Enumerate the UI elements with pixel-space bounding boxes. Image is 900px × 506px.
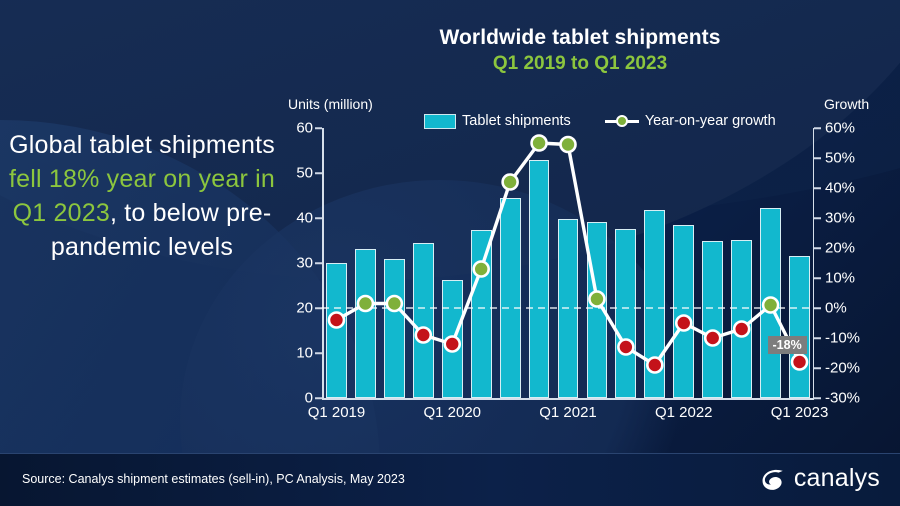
right-axis-title: Growth — [824, 96, 869, 112]
left-axis-tick-label: 50 — [296, 165, 313, 182]
left-axis-tick-label: 30 — [296, 255, 313, 272]
right-axis-tick — [814, 217, 821, 219]
growth-marker-q1-2021[interactable] — [561, 137, 576, 152]
chart-legend: Tablet shipments Year-on-year growth — [424, 113, 776, 129]
plot-area: 0102030405060-30%-20%-10%0%10%20%30%40%5… — [322, 128, 814, 398]
left-axis-tick-label: 10 — [296, 345, 313, 362]
line-marker-icon — [605, 114, 639, 128]
right-axis-tick — [814, 397, 821, 399]
growth-marker-q2-2021[interactable] — [589, 292, 604, 307]
right-axis-tick — [814, 247, 821, 249]
bar-swatch-icon — [424, 114, 456, 129]
growth-marker-q2-2019[interactable] — [358, 296, 373, 311]
growth-marker-q1-2019[interactable] — [329, 313, 344, 328]
headline-part-1: Global tablet shipments — [9, 131, 275, 159]
growth-marker-q4-2019[interactable] — [416, 328, 431, 343]
source-note: Source: Canalys shipment estimates (sell… — [22, 472, 405, 486]
chart-title: Worldwide tablet shipments — [300, 26, 860, 50]
chart-subtitle: Q1 2019 to Q1 2023 — [300, 53, 860, 75]
right-axis-tick-label: 60% — [825, 120, 855, 137]
right-axis-tick-label: -20% — [825, 360, 860, 377]
right-axis-tick-label: 20% — [825, 240, 855, 257]
x-axis-tick-label: Q1 2021 — [539, 404, 597, 421]
slide-canvas: Worldwide tablet shipments Q1 2019 to Q1… — [0, 0, 900, 506]
growth-marker-q4-2022[interactable] — [763, 298, 778, 313]
left-axis-tick — [315, 127, 322, 129]
right-axis-tick-label: 30% — [825, 210, 855, 227]
growth-marker-q3-2019[interactable] — [387, 296, 402, 311]
footer-bar: Source: Canalys shipment estimates (sell… — [0, 453, 900, 506]
growth-line — [336, 143, 799, 365]
legend-label-line: Year-on-year growth — [645, 113, 776, 129]
growth-line-series — [322, 128, 814, 398]
right-axis-tick — [814, 157, 821, 159]
right-axis-tick — [814, 367, 821, 369]
canalys-logo: canalys — [760, 464, 880, 493]
left-axis-tick — [315, 397, 322, 399]
x-axis-tick-label: Q1 2022 — [655, 404, 713, 421]
left-axis-tick — [315, 217, 322, 219]
x-axis-tick-label: Q1 2020 — [423, 404, 481, 421]
right-axis-tick — [814, 277, 821, 279]
legend-item-line: Year-on-year growth — [605, 113, 776, 129]
canalys-wordmark: canalys — [794, 464, 880, 493]
right-axis-tick-label: 0% — [825, 300, 847, 317]
growth-marker-q4-2021[interactable] — [647, 358, 662, 373]
growth-marker-q2-2020[interactable] — [474, 262, 489, 277]
left-axis-tick-label: 40 — [296, 210, 313, 227]
growth-marker-q1-2022[interactable] — [676, 316, 691, 331]
x-axis-line — [322, 398, 814, 400]
legend-item-bars: Tablet shipments — [424, 113, 571, 129]
growth-marker-q4-2020[interactable] — [532, 136, 547, 151]
growth-callout-label: -18% — [768, 336, 807, 354]
right-axis-tick-label: 40% — [825, 180, 855, 197]
left-axis-tick — [315, 307, 322, 309]
x-axis-tick-label: Q1 2019 — [308, 404, 366, 421]
growth-marker-q2-2022[interactable] — [705, 331, 720, 346]
right-axis-tick — [814, 187, 821, 189]
growth-marker-q1-2020[interactable] — [445, 337, 460, 352]
left-axis-tick — [315, 172, 322, 174]
growth-marker-q3-2021[interactable] — [618, 340, 633, 355]
left-axis-title: Units (million) — [288, 96, 373, 112]
right-axis-tick-label: -10% — [825, 330, 860, 347]
left-axis-tick — [315, 262, 322, 264]
right-axis-tick — [814, 127, 821, 129]
left-axis-tick-label: 20 — [296, 300, 313, 317]
growth-marker-q3-2022[interactable] — [734, 322, 749, 337]
right-axis-tick-label: 50% — [825, 150, 855, 167]
growth-marker-q1-2023[interactable] — [792, 355, 807, 370]
headline-text: Global tablet shipments fell 18% year on… — [8, 128, 276, 264]
right-axis-tick-label: 10% — [825, 270, 855, 287]
legend-label-bars: Tablet shipments — [462, 113, 571, 129]
growth-marker-q3-2020[interactable] — [503, 175, 518, 190]
left-axis-tick — [315, 352, 322, 354]
right-axis-tick-label: -30% — [825, 390, 860, 407]
canalys-swirl-icon — [760, 465, 787, 492]
x-axis-tick-label: Q1 2023 — [771, 404, 829, 421]
left-axis-tick-label: 60 — [296, 120, 313, 137]
right-axis-tick — [814, 337, 821, 339]
right-axis-tick — [814, 307, 821, 309]
